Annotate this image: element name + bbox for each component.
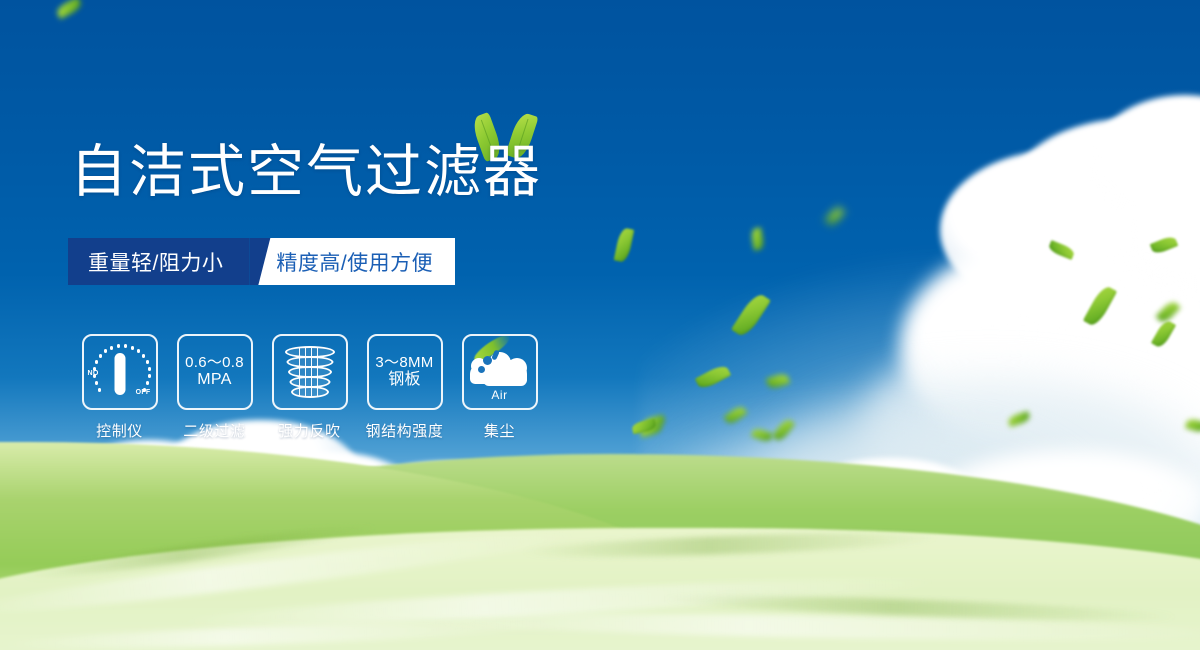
feature-item-strong-backflush[interactable]: 强力反吹 [262, 334, 357, 441]
page-title: 自洁式空气过滤器 [70, 144, 542, 201]
feature-text-line1: 0.6～0.8 [185, 354, 244, 372]
gauge-needle [114, 353, 125, 395]
feature-label: 钢结构强度 [365, 420, 443, 441]
coil-ring [291, 386, 329, 398]
feature-icon-box: NO OFF [82, 334, 158, 410]
feature-text-line2: MPA [185, 371, 244, 390]
air-caption: Air [469, 388, 531, 402]
feature-item-dust-collection[interactable]: Air 集尘 [452, 334, 547, 441]
feature-icon-text: 0.6～0.8 MPA [185, 354, 244, 391]
feature-item-secondary-filtration[interactable]: 0.6～0.8 MPA 二级过滤 [167, 334, 262, 441]
feature-label: 强力反吹 [278, 420, 340, 441]
feature-icon-box [272, 334, 348, 410]
filter-coil-icon [285, 344, 335, 400]
subtitle-bar: 重量轻/阻力小 精度高/使用方便 [68, 238, 455, 285]
feature-icon-box: 0.6～0.8 MPA [177, 334, 253, 410]
feature-icon-box: 3～8MM 钢板 [367, 334, 443, 410]
feature-label: 二级过滤 [183, 420, 245, 441]
feature-text-line1: 3～8MM [375, 354, 433, 372]
feature-item-steel-structure[interactable]: 3～8MM 钢板 钢结构强度 [357, 334, 452, 441]
subtitle-left: 重量轻/阻力小 [68, 238, 249, 285]
feature-label: 集尘 [484, 420, 515, 441]
air-cloud-icon: Air [469, 344, 531, 400]
feature-item-control-instrument[interactable]: NO OFF 控制仪 [72, 334, 167, 441]
feature-list: NO OFF 控制仪 0.6～0.8 MPA 二级过滤 [72, 334, 547, 441]
product-banner: 自洁式空气过滤器 重量轻/阻力小 精度高/使用方便 [0, 0, 1200, 650]
feature-text-line2: 钢板 [375, 371, 433, 390]
gauge-icon: NO OFF [87, 341, 153, 403]
feature-label: 控制仪 [96, 420, 143, 441]
meadow-foreground [0, 440, 1200, 650]
subtitle-right: 精度高/使用方便 [258, 238, 455, 285]
feature-icon-box: Air [462, 334, 538, 410]
gauge-label-no: NO [88, 370, 99, 377]
feature-icon-text: 3～8MM 钢板 [375, 354, 433, 391]
gauge-label-off: OFF [136, 389, 151, 396]
